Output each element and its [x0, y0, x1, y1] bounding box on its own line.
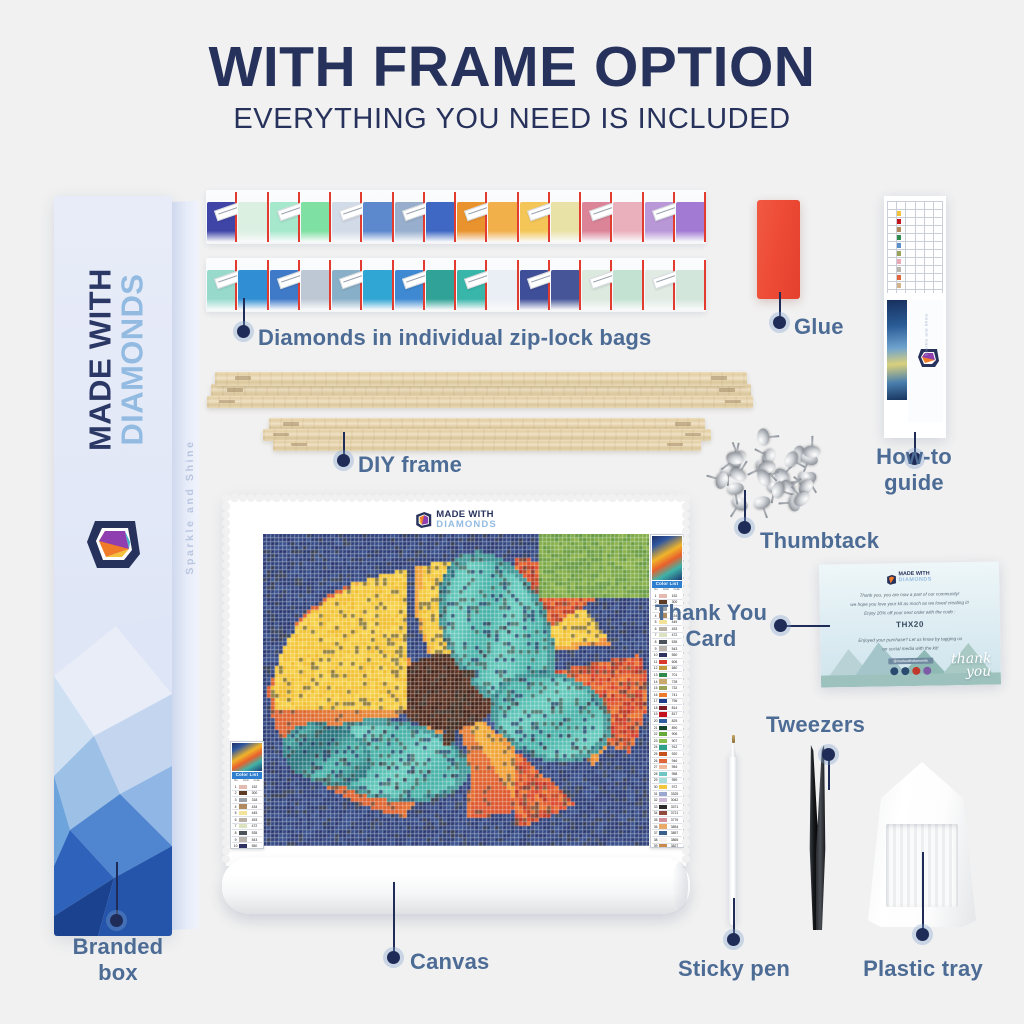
canvas-scallop-edge: [222, 611, 230, 619]
color-list-column-header: Code: [254, 779, 260, 782]
color-list-code: 890: [667, 726, 682, 730]
canvas-scallop-edge: [222, 729, 230, 737]
color-list-code: 825: [667, 719, 682, 723]
color-list-code: 434: [247, 805, 262, 809]
canvas-scallop-edge: [682, 527, 690, 535]
color-list-swatch: [659, 712, 667, 716]
color-list-row: 25920: [652, 751, 682, 758]
color-list-row: 22906: [652, 731, 682, 738]
zip-lock-bag: [206, 258, 237, 312]
canvas-scallop-edge: [682, 553, 690, 561]
box-lowpoly-pattern: [54, 616, 172, 936]
canvas-scallop-edge: [659, 494, 667, 502]
canvas-scallop-edge: [682, 670, 690, 678]
infographic-root: WITH FRAME OPTION EVERYTHING YOU NEED IS…: [0, 0, 1024, 1024]
zip-lock-bag: [206, 190, 237, 244]
color-list-row: 373857: [652, 830, 682, 837]
color-list-swatch: [239, 798, 247, 802]
dot-zip-bags: [237, 325, 250, 338]
canvas-scallop-edge: [356, 494, 364, 502]
howto-swatch: [897, 243, 901, 248]
zip-lock-bag: [300, 258, 331, 312]
color-list-code: 550: [667, 653, 682, 657]
canvas-scallop-edge: [608, 494, 616, 502]
label-sticky-pen: Sticky pen: [676, 956, 792, 982]
color-list-swatch: [239, 818, 247, 822]
canvas-scallop-edge: [499, 494, 507, 502]
canvas-scallop-edge: [222, 653, 230, 661]
color-list-swatch: [239, 844, 247, 848]
canvas-scallop-edge: [289, 494, 297, 502]
canvas-scallop-edge: [222, 737, 230, 745]
color-list-row: 1152: [652, 593, 682, 600]
canvas-scallop-edge: [407, 494, 415, 502]
color-list-index: 30: [652, 785, 659, 789]
color-list-row: 20825: [652, 718, 682, 725]
color-list-code: 959: [667, 778, 682, 782]
color-list-row: 7472: [232, 824, 262, 831]
color-list-right: Color ListNo.ColorCode115223003318443454…: [650, 534, 684, 848]
label-canvas: Canvas: [410, 949, 489, 975]
canvas-scallop-edge: [682, 847, 690, 855]
color-list-swatch: [659, 666, 667, 670]
canvas-scallop-edge: [682, 737, 690, 745]
color-list-column-header: Code: [674, 588, 680, 591]
canvas-scallop-edge: [222, 721, 230, 729]
color-list-code: 817: [667, 712, 682, 716]
color-list-index: 18: [652, 706, 659, 710]
pinterest-icon: [912, 667, 920, 675]
zip-lock-bags-group: [206, 190, 706, 312]
label-branded-box: Branded box: [60, 934, 176, 986]
color-list-swatch: [659, 719, 667, 723]
canvas-scallop-edge: [682, 838, 690, 846]
color-list-swatch: [659, 752, 667, 756]
color-list-index: 31: [652, 792, 659, 796]
canvas-scallop-edge: [222, 662, 230, 670]
canvas-scallop-edge: [682, 821, 690, 829]
color-list-code: 3325: [667, 792, 682, 796]
color-list-code: 946: [667, 759, 682, 763]
color-list-swatch: [659, 732, 667, 736]
canvas-scallop-edge: [583, 494, 591, 502]
color-list-row: 2300: [232, 791, 262, 798]
color-list-index: 25: [652, 752, 659, 756]
canvas-scallop-edge: [255, 494, 263, 502]
color-list-column-header: Color: [663, 588, 669, 591]
color-list-index: 29: [652, 778, 659, 782]
color-list-index: 3: [232, 798, 239, 802]
color-list-row: 393827: [652, 844, 682, 848]
color-list-index: 21: [652, 726, 659, 730]
color-list-row: 30972: [652, 784, 682, 791]
color-list-swatch: [659, 693, 667, 697]
color-list-thumbnail: [232, 743, 262, 771]
howto-cover-photo: [887, 300, 907, 400]
page-title: WITH FRAME OPTION: [0, 34, 1024, 100]
dot-plastic-tray: [916, 928, 929, 941]
color-list-code: 318: [247, 798, 262, 802]
canvas-scallop-edge: [297, 494, 305, 502]
zip-lock-bag: [612, 258, 643, 312]
canvas-scallop-edge: [682, 653, 690, 661]
color-list-index: 4: [232, 805, 239, 809]
canvas-scallop-edge: [682, 779, 690, 787]
zip-lock-bag: [331, 258, 362, 312]
canvas-scallop-edge: [482, 494, 490, 502]
color-list-index: 12: [652, 666, 659, 670]
zip-lock-bag: [394, 258, 425, 312]
canvas-scallop-edge: [222, 687, 230, 695]
canvas-scallop-edge: [682, 788, 690, 796]
zip-lock-bag: [644, 258, 675, 312]
canvas-scallop-edge: [222, 637, 230, 645]
color-list-row: 29959: [652, 778, 682, 785]
dot-tweezers: [822, 748, 835, 761]
leader-tweezers: [828, 760, 830, 790]
facebook-icon: [890, 667, 898, 675]
color-list-row: 10550: [232, 843, 262, 849]
color-list-index: 15: [652, 686, 659, 690]
color-list-row: 17796: [652, 699, 682, 706]
color-list-code: 3042: [667, 798, 682, 802]
color-list-swatch: [659, 739, 667, 743]
canvas-scallop-edge: [682, 813, 690, 821]
canvas-scallop-edge: [222, 536, 230, 544]
zip-lock-bag: [269, 190, 300, 244]
color-list-index: 24: [652, 745, 659, 749]
canvas-scallop-edge: [323, 494, 331, 502]
canvas-scallop-edge: [247, 494, 255, 502]
color-list-swatch: [659, 811, 667, 815]
canvas-scallop-edge: [222, 805, 230, 813]
color-list-code: 3721: [667, 811, 682, 815]
color-list-code: 3776: [667, 818, 682, 822]
canvas-scallop-edge: [222, 704, 230, 712]
color-list-row: 353776: [652, 817, 682, 824]
canvas-scallop-edge: [474, 494, 482, 502]
howto-guide-sheet: Sparkle and Shine: [884, 196, 946, 438]
color-list-index: 16: [652, 693, 659, 697]
color-list-row: 333371: [652, 804, 682, 811]
color-list-code: 445: [247, 811, 262, 815]
canvas-scallop-edge: [222, 595, 230, 603]
color-list-index: 28: [652, 772, 659, 776]
canvas-scallop-edge: [682, 679, 690, 687]
color-list-index: 1: [652, 594, 659, 598]
zip-lock-bag: [362, 258, 393, 312]
canvas-scallop-edge: [348, 494, 356, 502]
canvas-scallop-edge: [222, 779, 230, 787]
zip-lock-bag: [394, 190, 425, 244]
label-thank-you-card: Thank You Card: [652, 600, 770, 652]
canvas-scallop-edge: [682, 763, 690, 771]
canvas-scallop-edge: [524, 494, 532, 502]
color-list-row: 8535: [232, 830, 262, 837]
color-list-swatch: [659, 745, 667, 749]
howto-swatch: [897, 227, 901, 232]
label-howto-guide: How-to guide: [858, 444, 970, 496]
pen-cone: [730, 741, 736, 757]
color-list-row: 1152: [232, 784, 262, 791]
color-list-row: 313325: [652, 791, 682, 798]
canvas-scallop-edge: [230, 494, 238, 502]
canvas-scallop-edge: [682, 519, 690, 527]
canvas-scallop-edge: [222, 527, 230, 535]
canvas-scallop-edge: [222, 586, 230, 594]
dot-sticky-pen: [727, 933, 740, 946]
color-list-index: 26: [652, 759, 659, 763]
canvas-scallop-edge: [633, 494, 641, 502]
color-list-row: 23907: [652, 738, 682, 745]
color-list-swatch: [659, 844, 667, 848]
color-list-code: 958: [667, 772, 682, 776]
canvas-scallop-edge: [507, 494, 515, 502]
color-list-row: 343721: [652, 811, 682, 818]
color-list-swatch: [659, 686, 667, 690]
canvas-scallop-edge: [339, 494, 347, 502]
color-list-code: 3857: [667, 831, 682, 835]
color-list-index: 36: [652, 825, 659, 829]
twitter-icon: [901, 667, 909, 675]
canvas-scallop-edge: [682, 830, 690, 838]
thank-you-card: MADE WITH DIAMONDS Thank you, you are no…: [819, 561, 1001, 687]
canvas-sheet: MADE WITH DIAMONDS Color ListNo.ColorCod…: [226, 498, 686, 866]
card-brand-line2: DIAMONDS: [899, 577, 932, 583]
color-list-index: 39: [652, 844, 659, 848]
canvas-scallop-edge: [222, 553, 230, 561]
zip-lock-bag: [362, 190, 393, 244]
color-list-code: 972: [667, 785, 682, 789]
canvas-scallop-edge: [222, 746, 230, 754]
color-list-swatch: [659, 785, 667, 789]
canvas-scallop-edge: [222, 771, 230, 779]
tweezers: [800, 745, 846, 930]
mosaic-drill-grid: [263, 534, 649, 846]
color-list-thumbnail: [652, 536, 682, 580]
zip-lock-bag: [425, 258, 456, 312]
diamond-icon: [886, 572, 896, 583]
color-list-row: 13701: [652, 672, 682, 679]
canvas-scallop-edge: [239, 494, 247, 502]
color-list-index: 14: [652, 680, 659, 684]
box-brand-line1: MADE WITH: [84, 215, 116, 505]
color-list-column-header: No.: [654, 588, 658, 591]
canvas-rolled-tube: [222, 858, 690, 914]
color-list-swatch: [659, 699, 667, 703]
canvas-scallop-edge: [682, 805, 690, 813]
canvas-scallop-edge: [682, 561, 690, 569]
canvas-scallop-edge: [625, 494, 633, 502]
color-list-title: Color List: [232, 772, 262, 779]
color-list-row: 363854: [652, 824, 682, 831]
color-list-row: 19817: [652, 712, 682, 719]
color-list-index: 17: [652, 699, 659, 703]
color-list-index: 19: [652, 712, 659, 716]
zip-lock-bag: [456, 258, 487, 312]
canvas-scallop-edge: [682, 662, 690, 670]
canvas-scallop-edge: [432, 494, 440, 502]
color-list-code: 543: [247, 838, 262, 842]
color-list-swatch: [659, 805, 667, 809]
zip-lock-bag: [612, 190, 643, 244]
canvas-scallop-edge: [682, 721, 690, 729]
instagram-icon: [923, 667, 931, 675]
zip-lock-bag: [300, 190, 331, 244]
color-list-swatch: [659, 824, 667, 828]
color-list-row: 5445: [232, 810, 262, 817]
zip-lock-bag: [519, 258, 550, 312]
color-list-index: 33: [652, 805, 659, 809]
canvas-scallop-edge: [682, 754, 690, 762]
color-list-index: 10: [652, 653, 659, 657]
color-list-code: 680: [667, 666, 682, 670]
zip-lock-bag: [519, 190, 550, 244]
color-list-swatch: [659, 818, 667, 822]
canvas-scallop-edge: [306, 494, 314, 502]
label-tweezers: Tweezers: [766, 712, 865, 738]
canvas-scallop-edge: [222, 788, 230, 796]
color-list-swatch: [659, 759, 667, 763]
canvas-scallop-edge: [222, 519, 230, 527]
canvas-scallop-edge: [541, 494, 549, 502]
card-social-handle: @madewithdiamonds: [888, 658, 933, 665]
canvas-scallop-edge: [222, 813, 230, 821]
canvas-scallop-edge: [222, 628, 230, 636]
zip-lock-bag: [456, 190, 487, 244]
color-list-row: 6453: [232, 817, 262, 824]
color-list-index: 6: [232, 818, 239, 822]
label-glue: Glue: [794, 314, 844, 340]
color-list-row: 26946: [652, 758, 682, 765]
color-list-code: 152: [667, 594, 682, 598]
pen-tip: [732, 735, 735, 743]
canvas-scallop-edge: [222, 796, 230, 804]
canvas-scallop-edge: [549, 494, 557, 502]
howto-swatch: [897, 211, 901, 216]
canvas-scallop-edge: [222, 712, 230, 720]
frame-bar: [207, 396, 753, 408]
color-list-code: 814: [667, 706, 682, 710]
canvas-scallop-edge: [222, 763, 230, 771]
canvas-scallop-edge: [222, 569, 230, 577]
canvas-scallop-edge: [516, 494, 524, 502]
label-thumbtack: Thumbtack: [760, 528, 879, 554]
canvas-brand-line2: DIAMONDS: [436, 520, 497, 530]
color-list-swatch: [659, 831, 667, 835]
leader-plastic-tray: [922, 852, 924, 930]
canvas-scallop-edge: [533, 494, 541, 502]
color-list-index: 22: [652, 732, 659, 736]
box-front-face: MADE WITH DIAMONDS: [54, 196, 172, 936]
color-list-code: 907: [667, 739, 682, 743]
canvas-scallop-edge: [491, 494, 499, 502]
canvas-scallop-edge: [398, 494, 406, 502]
canvas-scallop-edge: [642, 494, 650, 502]
color-list-column-header: Color: [243, 779, 249, 782]
color-list-swatch: [239, 785, 247, 789]
frame-bar: [215, 372, 747, 386]
color-list-swatch: [239, 837, 247, 841]
color-list-index: 27: [652, 765, 659, 769]
zip-lock-bag: [550, 190, 581, 244]
color-list-code: 912: [667, 745, 682, 749]
color-list-swatch: [659, 660, 667, 664]
canvas-mosaic-art: [263, 534, 649, 846]
canvas-scallop-edge: [682, 695, 690, 703]
zip-lock-bag: [237, 258, 268, 312]
canvas-scallop-edge: [682, 729, 690, 737]
color-list-index: 23: [652, 739, 659, 743]
leader-branded-box: [116, 862, 118, 920]
howto-vertical-text: Sparkle and Shine: [924, 299, 929, 371]
box-tagline: Sparkle and Shine: [184, 377, 196, 638]
box-brand-text: MADE WITH DIAMONDS: [84, 215, 147, 505]
color-list-swatch: [659, 792, 667, 796]
leader-sticky-pen: [733, 898, 735, 936]
canvas-scallop-edge: [222, 679, 230, 687]
zip-lock-bag: [237, 190, 268, 244]
lowpoly-svg: [54, 616, 172, 936]
canvas-scallop-edge: [682, 855, 690, 863]
canvas-scallop-edge: [222, 821, 230, 829]
script-line2: you: [951, 666, 992, 680]
canvas-scallop-edge: [457, 494, 465, 502]
dot-branded-box: [110, 914, 123, 927]
canvas-scallop-edge: [558, 494, 566, 502]
card-social-icons: [890, 667, 931, 676]
canvas-scallop-edge: [617, 494, 625, 502]
howto-swatch: [897, 283, 901, 288]
dot-diy-frame: [337, 454, 350, 467]
canvas-scallop-edge: [390, 494, 398, 502]
zip-lock-bag: [269, 258, 300, 312]
canvas-scallop-edge: [682, 771, 690, 779]
leader-canvas: [393, 882, 395, 956]
color-list-index: 9: [232, 838, 239, 842]
canvas-scallop-edge: [272, 494, 280, 502]
dot-thank-you: [774, 619, 787, 632]
color-list-swatch: [659, 838, 667, 842]
canvas-brand-logo: MADE WITH DIAMONDS: [415, 510, 497, 529]
canvas-scallop-edge: [449, 494, 457, 502]
glue-block: [757, 200, 800, 299]
color-list-row: 10550: [652, 652, 682, 659]
canvas-scallop-edge: [682, 746, 690, 754]
canvas-scallop-edge: [222, 847, 230, 855]
zip-lock-bag: [550, 258, 581, 312]
color-list-swatch: [659, 594, 667, 598]
color-list-code: 741: [667, 693, 682, 697]
color-list-code: 3854: [667, 825, 682, 829]
canvas-scallop-edge: [682, 544, 690, 552]
color-list-swatch: [659, 706, 667, 710]
leader-thumbtack: [744, 490, 746, 524]
canvas-scallop-edge: [440, 494, 448, 502]
zip-lock-bag: [581, 258, 612, 312]
canvas-scallop-edge: [650, 494, 658, 502]
zip-bag-row-2: [206, 258, 706, 312]
canvas-scallop-edge: [222, 620, 230, 628]
canvas-scallop-edge: [423, 494, 431, 502]
color-list-header-row: No.ColorCode: [232, 779, 262, 782]
diamond-icon: [415, 511, 432, 529]
canvas-scallop-edge: [222, 561, 230, 569]
color-list-index: 11: [652, 660, 659, 664]
card-brand-logo: MADE WITH DIAMONDS: [886, 572, 932, 584]
canvas-scallop-edge: [682, 586, 690, 594]
color-list-column-header: No.: [234, 779, 238, 782]
